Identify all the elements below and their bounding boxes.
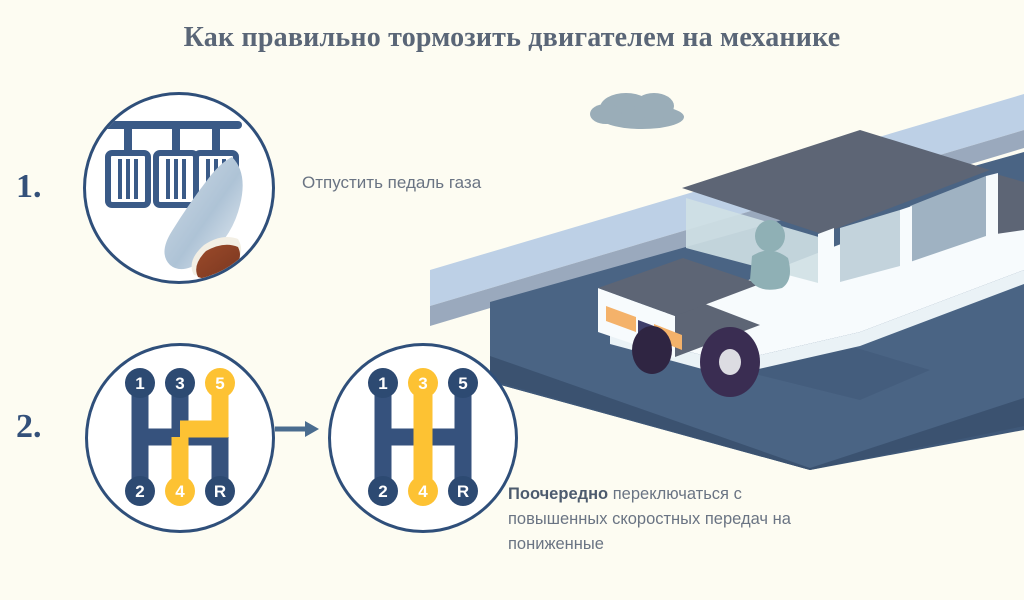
step-2-number: 2. [16,408,42,446]
window-rear-quarter [996,174,1024,234]
pedals-svg [86,95,272,281]
wheel-front-far [632,326,672,374]
gear-badge-3[interactable]: 3 [408,368,438,398]
svg-text:1: 1 [135,374,144,393]
step-2-text: Поочередно переключаться с повышенных ск… [508,482,838,557]
pedal-brake [156,153,196,205]
svg-text:4: 4 [175,482,185,501]
gear-badge-2[interactable]: 2 [368,476,398,506]
step-1-text: Отпустить педаль газа [302,173,481,193]
cloud-icon [590,93,684,129]
gear-diagram-2-svg: 1 3 5 2 4 [331,346,515,530]
gear-diagram-1-svg: 1 3 5 2 4 [88,346,272,530]
gear-diagram-1-circle: 1 3 5 2 4 [85,343,275,533]
svg-text:4: 4 [418,482,428,501]
infographic-canvas: Как правильно тормозить двигателем на ме… [0,0,1024,600]
svg-text:R: R [214,482,226,501]
svg-text:2: 2 [378,482,387,501]
page-title: Как правильно тормозить двигателем на ме… [0,22,1024,54]
gear-badge-r[interactable]: R [205,476,235,506]
gear-badge-1[interactable]: 1 [125,368,155,398]
gear-diagram-2-circle: 1 3 5 2 4 [328,343,518,533]
gear-badge-2[interactable]: 2 [125,476,155,506]
b-pillar [900,206,912,266]
c-pillar [986,173,998,236]
svg-text:2: 2 [135,482,144,501]
svg-text:5: 5 [215,374,224,393]
car-scene-illustration [430,70,1024,470]
step-2-text-lead: Поочередно [508,485,608,503]
step-1-number: 1. [16,168,42,206]
wheel-front [700,327,760,397]
gear-badge-5[interactable]: 5 [448,368,478,398]
gear-badge-4[interactable]: 4 [408,476,438,506]
pedals-illustration-circle [83,92,275,284]
gear-badge-5[interactable]: 5 [205,368,235,398]
pedal-assembly [104,125,238,153]
gear-badge-r[interactable]: R [448,476,478,506]
svg-text:3: 3 [175,374,184,393]
svg-text:5: 5 [458,374,467,393]
a-pillar [818,228,834,286]
svg-text:R: R [457,482,469,501]
pedal-clutch [108,153,148,205]
gear-badge-1[interactable]: 1 [368,368,398,398]
svg-text:1: 1 [378,374,387,393]
gear-badge-3[interactable]: 3 [165,368,195,398]
gear-badge-4[interactable]: 4 [165,476,195,506]
arrow-right-icon [275,418,321,440]
scene-svg [430,70,1024,470]
svg-text:3: 3 [418,374,427,393]
